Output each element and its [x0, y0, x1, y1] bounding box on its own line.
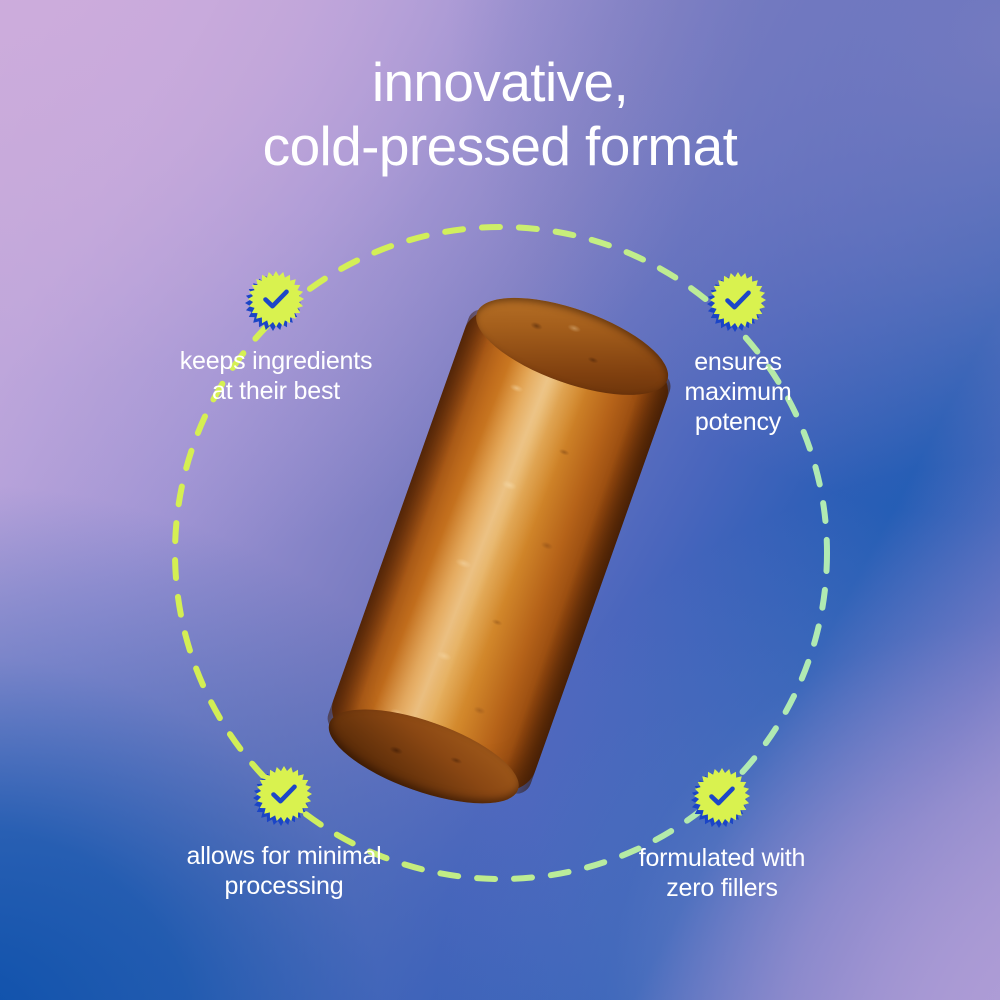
- feature-allows-minimal-processing: allows for minimal processing: [114, 766, 454, 901]
- promo-graphic: innovative, cold-pressed format keeps in…: [0, 0, 1000, 1000]
- feature-ensures-potency: ensures maximum potency: [568, 272, 908, 437]
- feature-zero-fillers: formulated with zero fillers: [552, 768, 892, 903]
- feature-label: allows for minimal processing: [114, 841, 454, 901]
- feature-label: formulated with zero fillers: [552, 843, 892, 903]
- check-starburst-icon: [248, 271, 304, 327]
- check-starburst-icon: [694, 768, 750, 824]
- feature-keeps-ingredients: keeps ingredients at their best: [106, 271, 446, 406]
- feature-label: keeps ingredients at their best: [106, 346, 446, 406]
- feature-label: ensures maximum potency: [568, 347, 908, 437]
- check-starburst-icon: [256, 766, 312, 822]
- check-starburst-icon: [710, 272, 766, 328]
- page-title: innovative, cold-pressed format: [0, 50, 1000, 178]
